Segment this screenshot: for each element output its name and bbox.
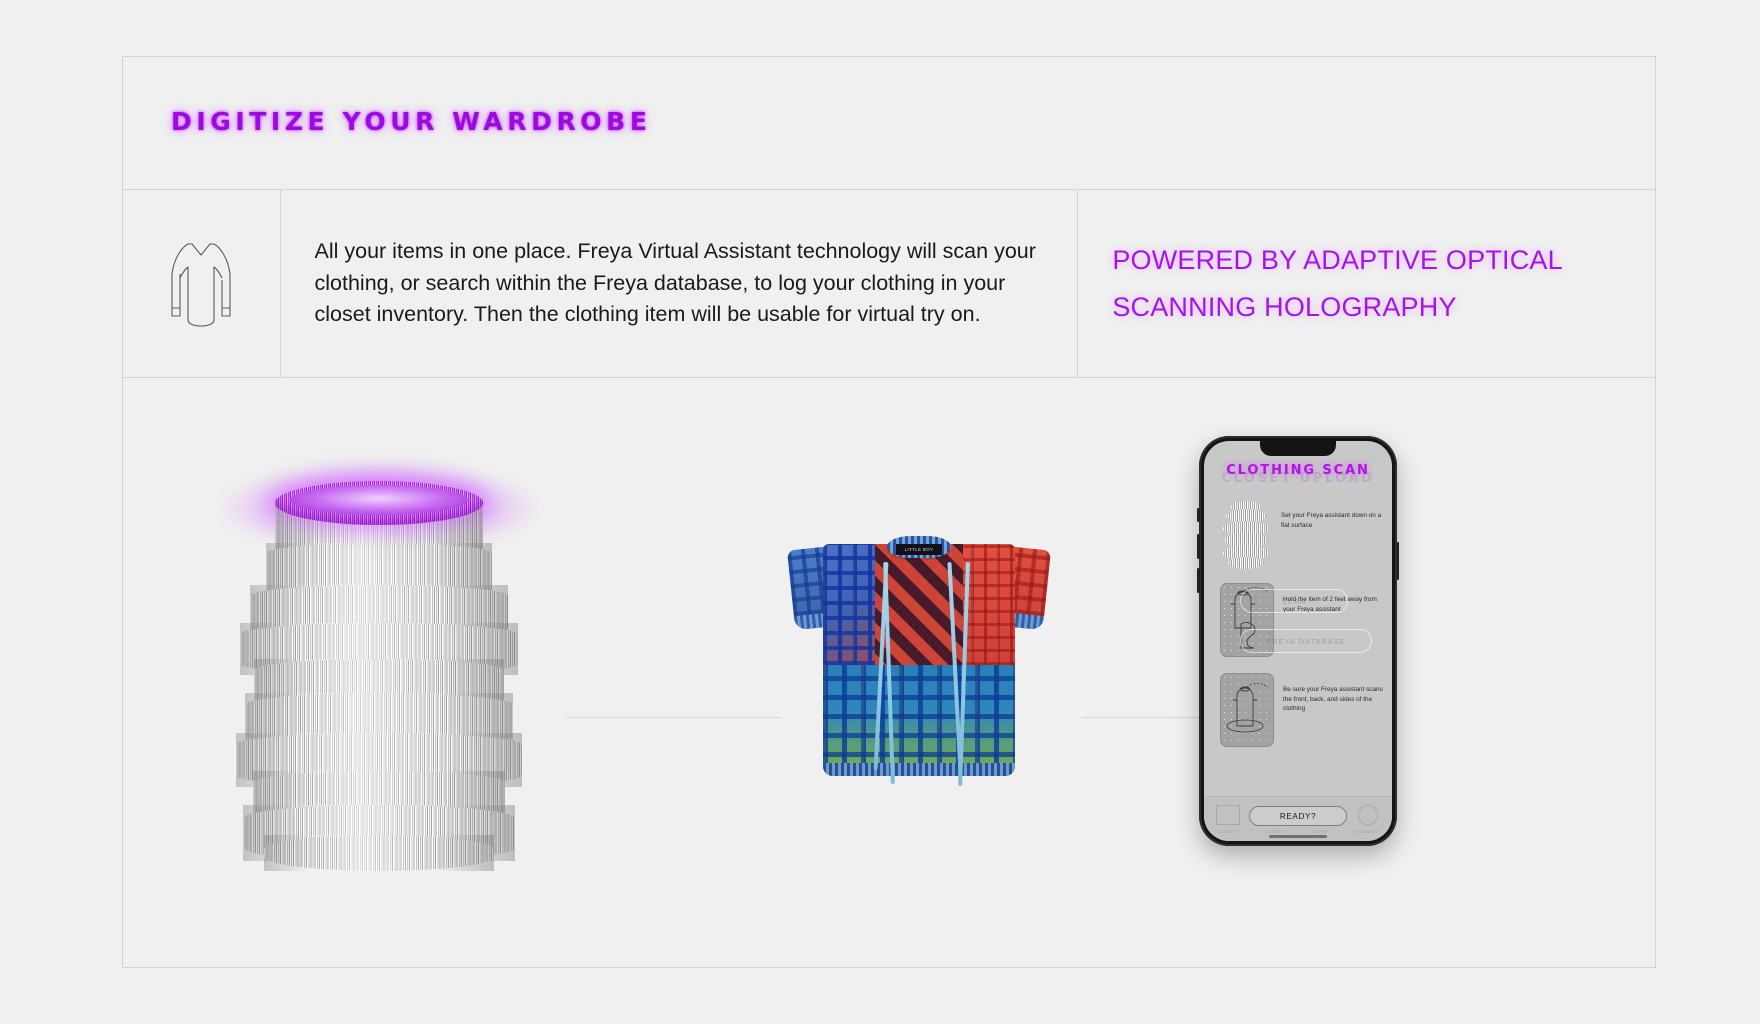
stage-area: LITTLE BOY CLOSET UPLOAD CLOTHING SCAN S… xyxy=(123,378,1655,968)
poster-board: DIGITIZE YOUR WARDROBE All your items in… xyxy=(122,56,1656,968)
nav-closet-icon[interactable] xyxy=(1216,805,1240,825)
phone-volume-down-button[interactable] xyxy=(1197,568,1200,593)
phone-mockup: CLOSET UPLOAD CLOTHING SCAN SCAN FREYA D… xyxy=(1199,436,1397,846)
phone-mute-switch[interactable] xyxy=(1197,508,1200,522)
phone-bottom-bar: READY? CLOSET CLOSET SCAN ACCOUNT xyxy=(1204,796,1392,841)
sweater-icon-cell xyxy=(123,190,281,377)
phone-nav-bar: CLOSET CLOSET SCAN ACCOUNT xyxy=(1204,829,1392,834)
step-3-illustration xyxy=(1220,673,1274,747)
description-text: All your items in one place. Freya Virtu… xyxy=(315,236,1044,330)
step-1-text: Set your Freya assistant down on a flat … xyxy=(1281,499,1388,530)
phone-screen: CLOSET UPLOAD CLOTHING SCAN SCAN FREYA D… xyxy=(1204,441,1392,841)
nav-item-closet[interactable]: CLOSET xyxy=(1217,829,1238,834)
tee-brand-tag: LITTLE BOY xyxy=(896,544,942,555)
step-3-diagram-icon xyxy=(1221,674,1273,746)
phone-power-button[interactable] xyxy=(1397,542,1400,580)
scan-step-1: Set your Freya assistant down on a flat … xyxy=(1220,499,1388,571)
phone-volume-up-button[interactable] xyxy=(1197,534,1200,559)
plaid-tee-garment: LITTLE BOY xyxy=(787,522,1051,784)
scan-step-3: Be sure your Freya assistant scans the f… xyxy=(1220,673,1388,747)
phone-notch xyxy=(1260,441,1336,456)
ready-button[interactable]: READY? xyxy=(1249,806,1347,826)
ghost-scan-button[interactable]: SCAN xyxy=(1240,589,1348,613)
ghost-freya-database-button[interactable]: FREYA DATABASE xyxy=(1240,629,1372,653)
nav-account-icon[interactable] xyxy=(1358,805,1378,825)
screen-title: CLOTHING SCAN xyxy=(1204,463,1392,478)
nav-item-closet-2[interactable]: CLOSET xyxy=(1265,829,1286,834)
phone-home-indicator[interactable] xyxy=(1269,835,1327,838)
step-3-text: Be sure your Freya assistant scans the f… xyxy=(1283,673,1388,714)
header-band: DIGITIZE YOUR WARDROBE xyxy=(123,57,1655,190)
device-glow-rim xyxy=(275,481,483,525)
step-1-device-illustration xyxy=(1220,499,1272,571)
nav-item-account[interactable]: ACCOUNT xyxy=(1353,829,1379,834)
device-column xyxy=(229,499,529,871)
nav-item-scan[interactable]: SCAN xyxy=(1312,829,1326,834)
tee-body xyxy=(823,544,1015,776)
description-cell: All your items in one place. Freya Virtu… xyxy=(281,190,1079,377)
device-rim-inner xyxy=(290,485,468,515)
connector-line-left xyxy=(566,717,781,718)
tee-hem xyxy=(823,763,1015,776)
powered-by-cell: POWERED BY ADAPTIVE OPTICAL SCANNING HOL… xyxy=(1078,190,1655,377)
tee-graphic: LITTLE BOY xyxy=(787,522,1051,784)
freya-assistant-device xyxy=(229,481,529,871)
sweater-icon xyxy=(162,240,240,328)
powered-by-text: POWERED BY ADAPTIVE OPTICAL SCANNING HOL… xyxy=(1112,237,1621,330)
info-band: All your items in one place. Freya Virtu… xyxy=(123,190,1655,378)
page-title: DIGITIZE YOUR WARDROBE xyxy=(171,107,652,136)
